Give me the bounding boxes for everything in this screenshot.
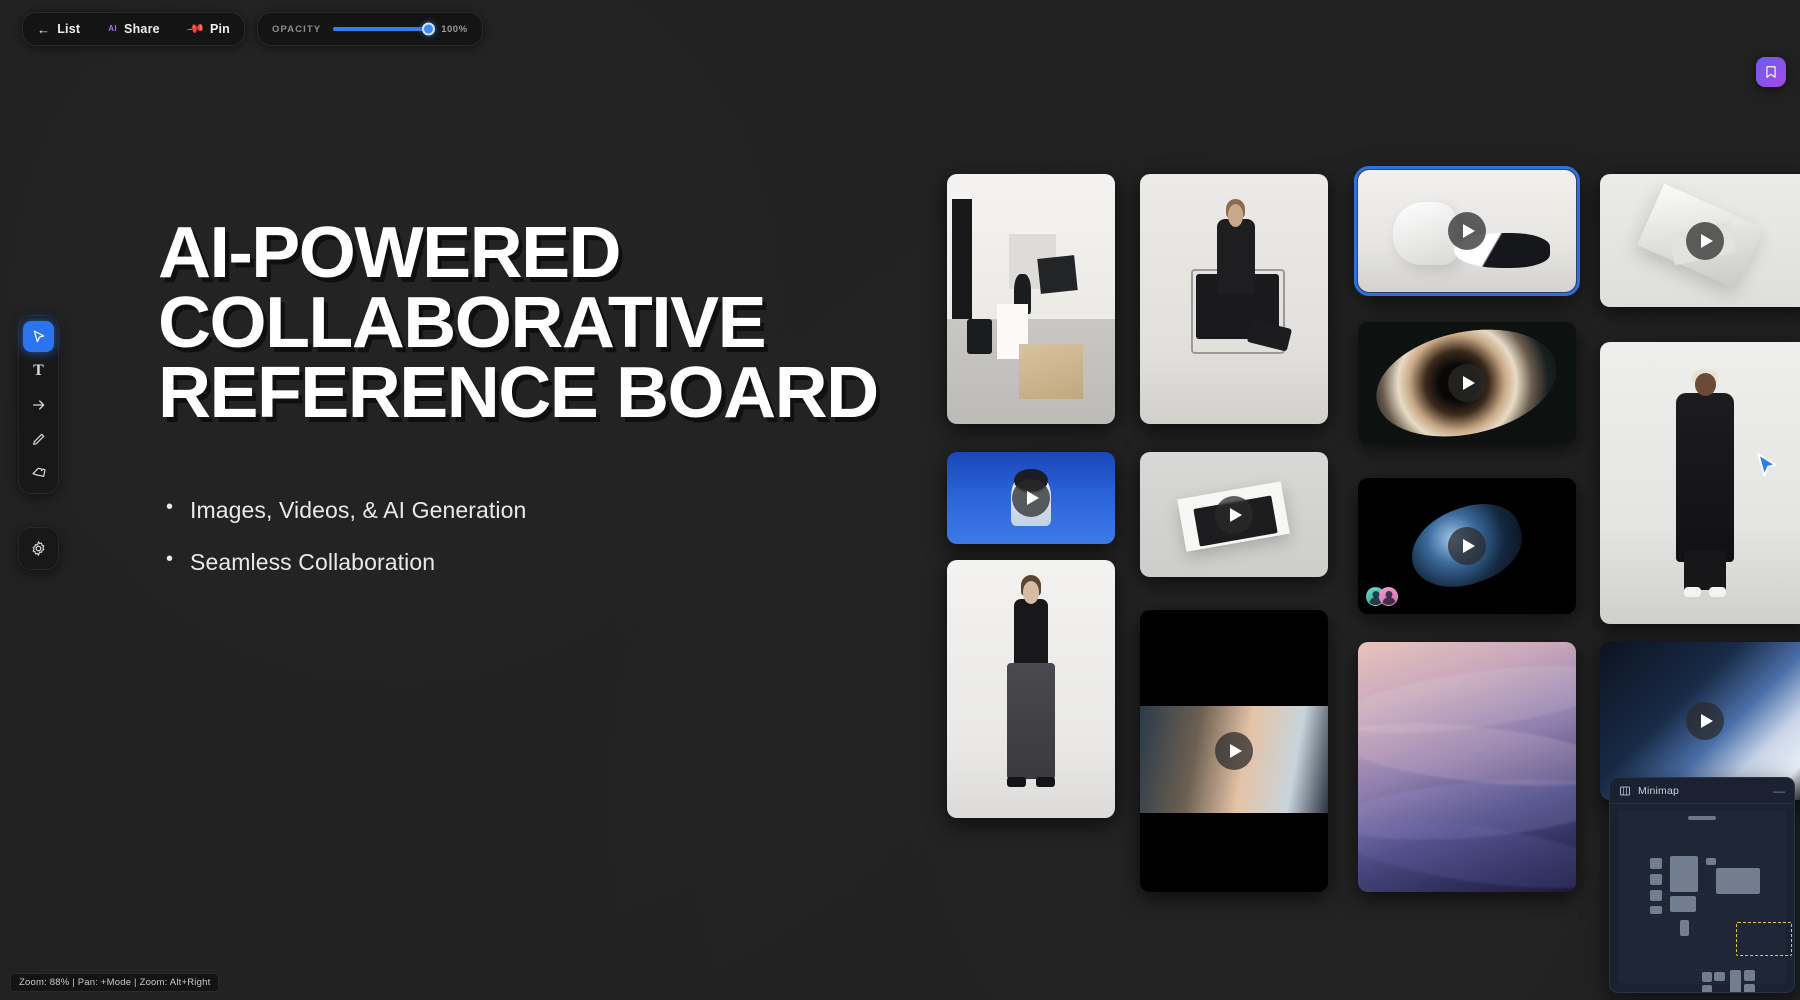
minimize-icon[interactable]: — <box>1773 785 1785 797</box>
ai-badge-icon: AI <box>108 25 117 33</box>
gear-icon <box>30 540 47 557</box>
minimap-canvas[interactable] <box>1618 810 1786 984</box>
avatar <box>1379 587 1398 606</box>
status-bar: Zoom: 88% | Pan: +Mode | Zoom: Alt+Right <box>10 973 219 992</box>
minimap-panel[interactable]: Minimap — <box>1609 777 1795 993</box>
minimap-item <box>1650 906 1662 914</box>
play-button[interactable] <box>1448 212 1486 250</box>
card-woman-standing[interactable] <box>947 560 1115 818</box>
reference-board <box>0 0 1800 1000</box>
minimap-viewport[interactable] <box>1736 922 1792 956</box>
settings-tool[interactable] <box>23 533 54 564</box>
top-toolbar: ← List AI Share 📌 Pin OPACITY 100% <box>22 12 483 46</box>
minimap-title: Minimap <box>1638 785 1766 797</box>
minimap-item <box>1702 972 1712 982</box>
minimap-item <box>1744 970 1755 981</box>
card-woman-chair[interactable] <box>1140 174 1328 424</box>
tag-icon <box>31 465 47 481</box>
card-thumbnail <box>947 174 1115 424</box>
minimap-item <box>1680 920 1689 936</box>
collaborator-avatars <box>1366 587 1392 606</box>
minimap-item <box>1744 984 1755 993</box>
pen-tool[interactable] <box>23 423 54 454</box>
settings-rail <box>18 527 59 570</box>
card-wave-gradient[interactable] <box>1358 642 1576 892</box>
pin-button[interactable]: 📌 Pin <box>174 13 244 45</box>
opacity-slider-fill <box>333 27 429 31</box>
minimap-item <box>1650 858 1662 869</box>
card-white-sculpture[interactable] <box>1358 170 1576 292</box>
minimap-item <box>1716 868 1760 894</box>
minimap-scroll-handle[interactable] <box>1688 816 1716 820</box>
arrow-tool[interactable] <box>23 389 54 420</box>
minimap-item <box>1670 896 1696 912</box>
tag-tool[interactable] <box>23 457 54 488</box>
select-tool[interactable] <box>23 321 54 352</box>
action-pill: ← List AI Share 📌 Pin <box>22 12 245 46</box>
bookmark-icon <box>1764 65 1778 79</box>
card-book-object[interactable] <box>1140 452 1328 577</box>
opacity-control: OPACITY 100% <box>257 12 483 46</box>
back-to-list-button[interactable]: ← List <box>23 13 94 45</box>
minimap-item <box>1650 890 1662 901</box>
opacity-value: 100% <box>441 24 467 35</box>
play-button[interactable] <box>1012 479 1050 517</box>
play-button[interactable] <box>1686 222 1724 260</box>
play-button[interactable] <box>1215 732 1253 770</box>
minimap-item <box>1714 972 1725 981</box>
card-thumbnail <box>1358 642 1576 892</box>
share-button[interactable]: AI Share <box>94 13 174 45</box>
back-to-list-label: List <box>57 22 80 36</box>
opacity-slider-knob[interactable] <box>422 23 435 36</box>
card-blue-figure[interactable] <box>947 452 1115 544</box>
tool-rail: T <box>18 315 59 494</box>
play-button[interactable] <box>1448 364 1486 402</box>
text-icon: T <box>33 362 44 380</box>
bookmark-button[interactable] <box>1756 57 1786 87</box>
minimap-item <box>1650 874 1662 885</box>
text-tool[interactable]: T <box>23 355 54 386</box>
arrow-right-icon <box>31 397 47 413</box>
minimap-item <box>1670 856 1698 892</box>
card-paper-object[interactable] <box>1600 174 1800 307</box>
share-label: Share <box>124 22 160 36</box>
arrow-left-icon: ← <box>37 23 50 36</box>
opacity-slider[interactable] <box>333 27 429 31</box>
card-landscape-video[interactable] <box>1140 610 1328 892</box>
pin-label: Pin <box>210 22 230 36</box>
pen-icon <box>31 431 47 447</box>
minimap-header: Minimap — <box>1610 778 1794 804</box>
opacity-label: OPACITY <box>272 24 321 35</box>
card-gallery-interior[interactable] <box>947 174 1115 424</box>
card-thumbnail <box>1140 174 1328 424</box>
pin-icon: 📌 <box>186 20 205 39</box>
play-button[interactable] <box>1215 496 1253 534</box>
play-button[interactable] <box>1448 527 1486 565</box>
card-thumbnail <box>947 560 1115 818</box>
map-icon <box>1619 785 1631 797</box>
minimap-item <box>1706 858 1716 865</box>
card-thumbnail <box>1600 342 1800 624</box>
minimap-item <box>1730 970 1741 993</box>
minimap-item <box>1702 985 1712 993</box>
cursor-icon <box>31 329 47 345</box>
card-golden-eye[interactable] <box>1358 322 1576 444</box>
play-button[interactable] <box>1686 702 1724 740</box>
card-black-coat[interactable] <box>1600 342 1800 624</box>
card-liquid-form[interactable] <box>1358 478 1576 614</box>
